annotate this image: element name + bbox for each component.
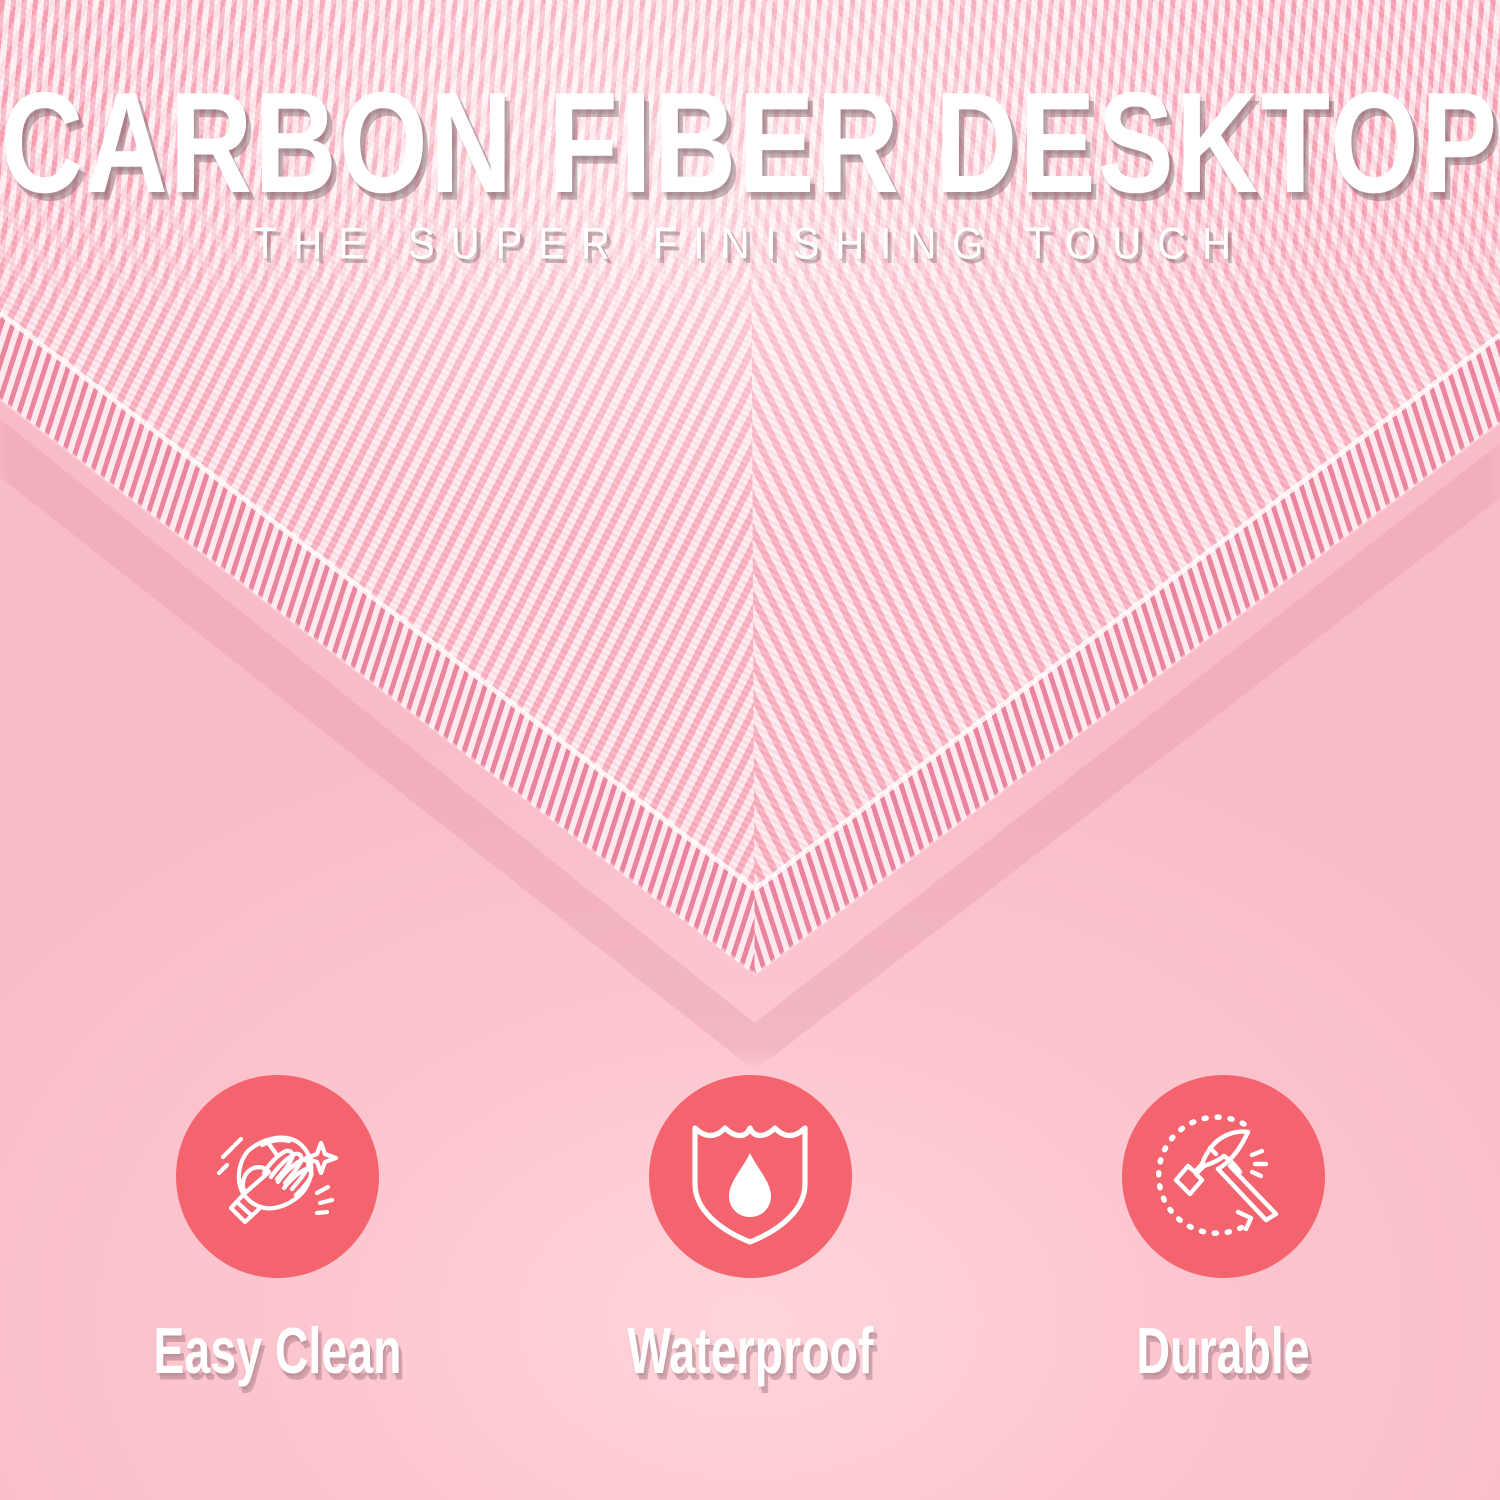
feature-badge-easy-clean (176, 1075, 379, 1278)
hand-wiping-cloth-icon (207, 1107, 347, 1247)
feature-item-waterproof: Waterproof (643, 1075, 858, 1380)
feature-label-waterproof: Waterproof (627, 1313, 873, 1388)
feature-badge-durable (1122, 1075, 1325, 1278)
page-title: CARBON FIBER DESKTOP (0, 0, 1500, 215)
product-marketing-banner: CARBON FIBER DESKTOP THE SUPER FINISHING… (0, 0, 1500, 1500)
feature-badge-waterproof (649, 1075, 852, 1278)
feature-label-durable: Durable (1136, 1313, 1309, 1388)
shield-water-drop-icon (679, 1106, 821, 1248)
feature-list: Easy Clean Waterproof (0, 1075, 1500, 1380)
feature-item-durable: Durable (1116, 1075, 1331, 1380)
hammer-impact-icon (1152, 1106, 1294, 1248)
feature-label-easy-clean: Easy Clean (153, 1313, 401, 1388)
header-block: CARBON FIBER DESKTOP THE SUPER FINISHING… (0, 0, 1500, 267)
feature-item-easy-clean: Easy Clean (170, 1075, 385, 1380)
page-subtitle: THE SUPER FINISHING TOUCH (0, 219, 1500, 269)
